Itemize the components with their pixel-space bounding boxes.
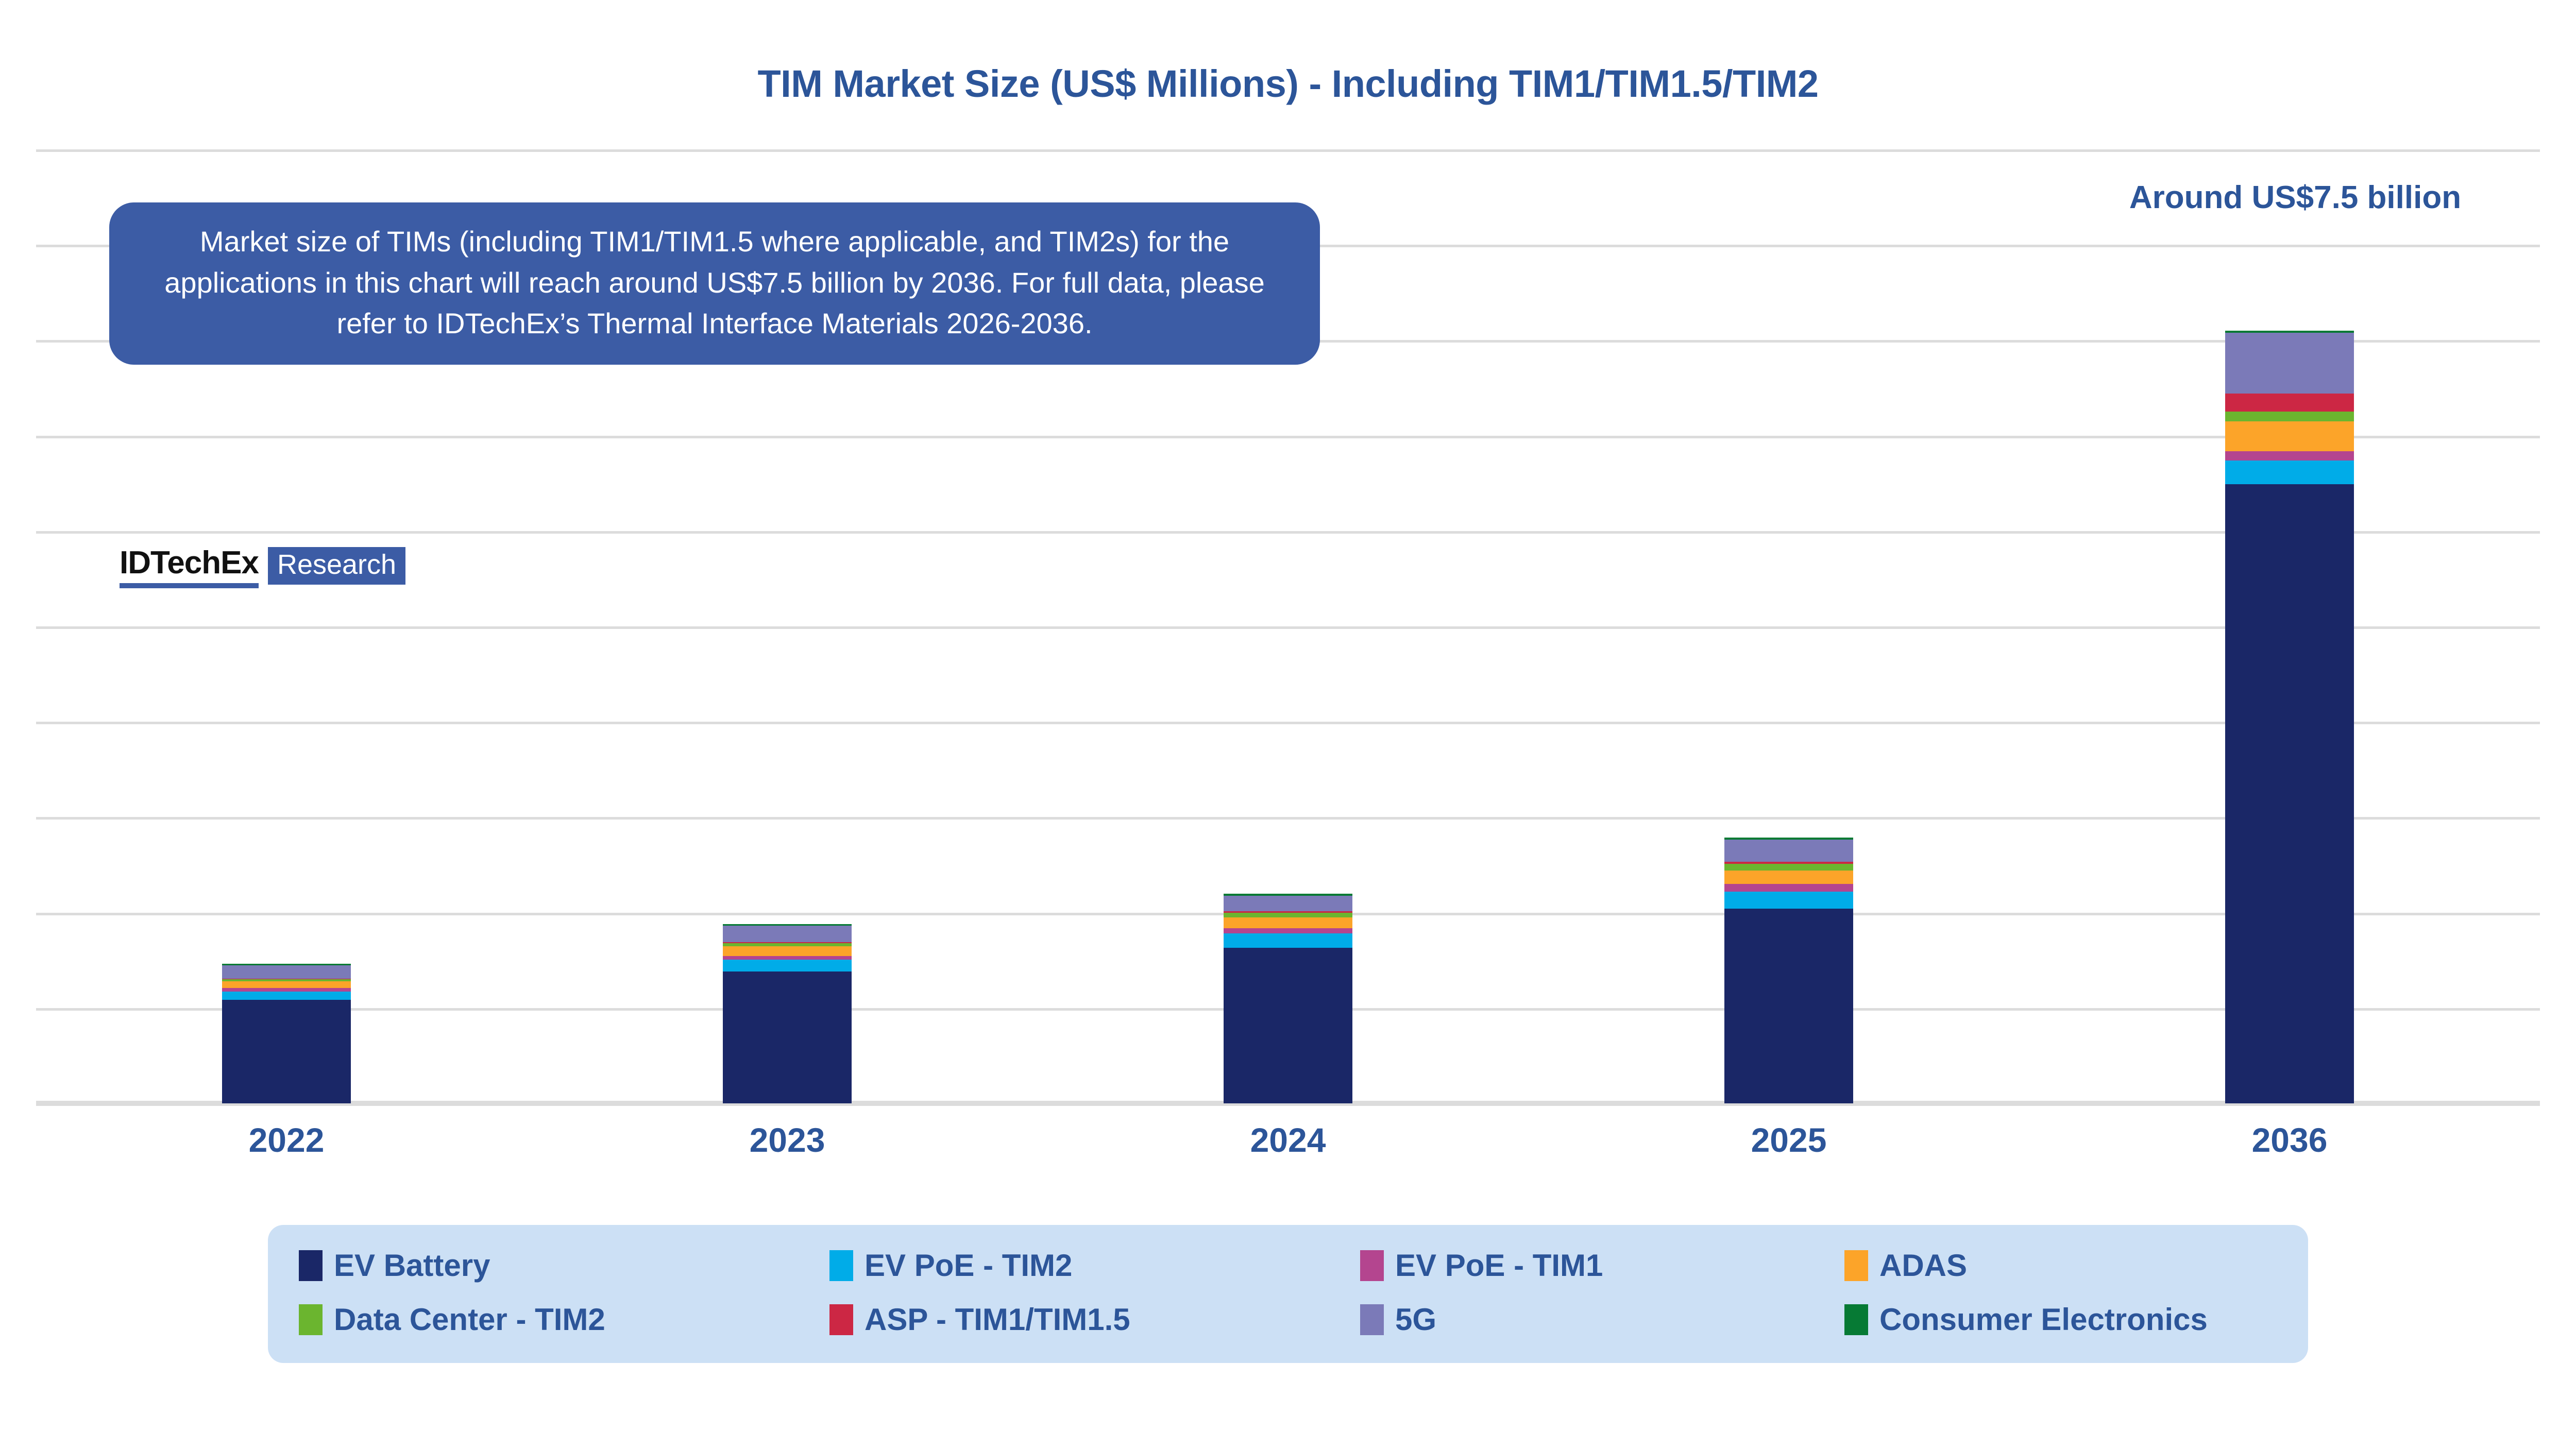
legend-label: ADAS — [1879, 1248, 1967, 1283]
bar-slot-2025 — [1538, 149, 2039, 1103]
legend-item[interactable]: ADAS — [1844, 1248, 2277, 1283]
bar-segment — [1724, 909, 1853, 1103]
legend-label: Data Center - TIM2 — [334, 1302, 605, 1337]
legend-item[interactable]: EV Battery — [299, 1248, 829, 1283]
stacked-bar[interactable] — [1724, 838, 1853, 1103]
legend-label: ASP - TIM1/TIM1.5 — [865, 1302, 1130, 1337]
bar-segment — [1724, 884, 1853, 892]
bar-segment — [1224, 933, 1352, 948]
bar-segment — [723, 946, 852, 956]
bar-segment — [1224, 948, 1352, 1103]
logo-research-badge: Research — [268, 547, 405, 585]
legend-swatch-icon — [829, 1304, 853, 1335]
legend-label: Consumer Electronics — [1879, 1302, 2208, 1337]
legend-swatch-icon — [1360, 1250, 1384, 1281]
legend-swatch-icon — [1844, 1250, 1868, 1281]
bar-segment — [723, 971, 852, 1103]
legend-swatch-icon — [1844, 1304, 1868, 1335]
bar-segment — [2225, 394, 2354, 412]
bar-segment — [222, 1000, 351, 1103]
legend-item[interactable]: Data Center - TIM2 — [299, 1302, 829, 1337]
legend-item[interactable]: EV PoE - TIM1 — [1360, 1248, 1844, 1283]
logo-wordmark: IDTechEx — [120, 547, 259, 588]
legend-swatch-icon — [1360, 1304, 1384, 1335]
logo-underline — [120, 583, 259, 588]
legend-item[interactable]: 5G — [1360, 1302, 1844, 1337]
stacked-bar[interactable] — [2225, 331, 2354, 1103]
bar-segment — [2225, 421, 2354, 451]
x-tick-label: 2025 — [1538, 1120, 2039, 1160]
legend-item[interactable]: Consumer Electronics — [1844, 1302, 2277, 1337]
bar-segment — [723, 956, 852, 960]
callout-box: Market size of TIMs (including TIM1/TIM1… — [109, 202, 1320, 365]
stacked-bar[interactable] — [1224, 894, 1352, 1103]
bar-slot-2036 — [2039, 149, 2540, 1103]
legend-item[interactable]: EV PoE - TIM2 — [829, 1248, 1360, 1283]
x-tick-label: 2024 — [1038, 1120, 1538, 1160]
legend-item[interactable]: ASP - TIM1/TIM1.5 — [829, 1302, 1360, 1337]
bar-segment — [1224, 896, 1352, 911]
bar-segment — [222, 981, 351, 988]
logo-name-text: IDTechEx — [120, 547, 259, 579]
page-title: TIM Market Size (US$ Millions) - Includi… — [0, 62, 2576, 106]
bar-segment — [1724, 871, 1853, 884]
legend-label: EV PoE - TIM1 — [1395, 1248, 1603, 1283]
bar-segment — [2225, 412, 2354, 421]
x-tick-label: 2022 — [36, 1120, 537, 1160]
callout-text: Market size of TIMs (including TIM1/TIM1… — [164, 225, 1264, 339]
x-axis-labels: 20222023202420252036 — [36, 1120, 2540, 1160]
stacked-bar[interactable] — [222, 964, 351, 1103]
bar-segment — [2225, 484, 2354, 1103]
legend-swatch-icon — [299, 1304, 323, 1335]
legend-label: EV PoE - TIM2 — [865, 1248, 1072, 1283]
bar-segment — [723, 926, 852, 942]
chart-legend: EV BatteryEV PoE - TIM2EV PoE - TIM1ADAS… — [268, 1225, 2308, 1363]
bar-segment — [222, 965, 351, 979]
bar-segment — [222, 988, 351, 992]
legend-swatch-icon — [299, 1250, 323, 1281]
bar-segment — [2225, 451, 2354, 461]
bar-segment — [1224, 917, 1352, 928]
bar-segment — [222, 992, 351, 1000]
bar-segment — [1724, 864, 1853, 871]
bar-segment — [1724, 840, 1853, 862]
chart-canvas: TIM Market Size (US$ Millions) - Includi… — [0, 0, 2576, 1449]
x-tick-label: 2023 — [537, 1120, 1038, 1160]
bar-segment — [1724, 892, 1853, 909]
bar-segment — [1224, 928, 1352, 933]
legend-swatch-icon — [829, 1250, 853, 1281]
stacked-bar[interactable] — [723, 924, 852, 1103]
bar-segment — [723, 960, 852, 971]
x-tick-label: 2036 — [2039, 1120, 2540, 1160]
idtechex-logo: IDTechEx Research — [120, 547, 405, 588]
legend-label: EV Battery — [334, 1248, 490, 1283]
legend-label: 5G — [1395, 1302, 1436, 1337]
bar-segment — [2225, 461, 2354, 484]
bar-segment — [2225, 333, 2354, 394]
bar-segment — [1224, 913, 1352, 917]
